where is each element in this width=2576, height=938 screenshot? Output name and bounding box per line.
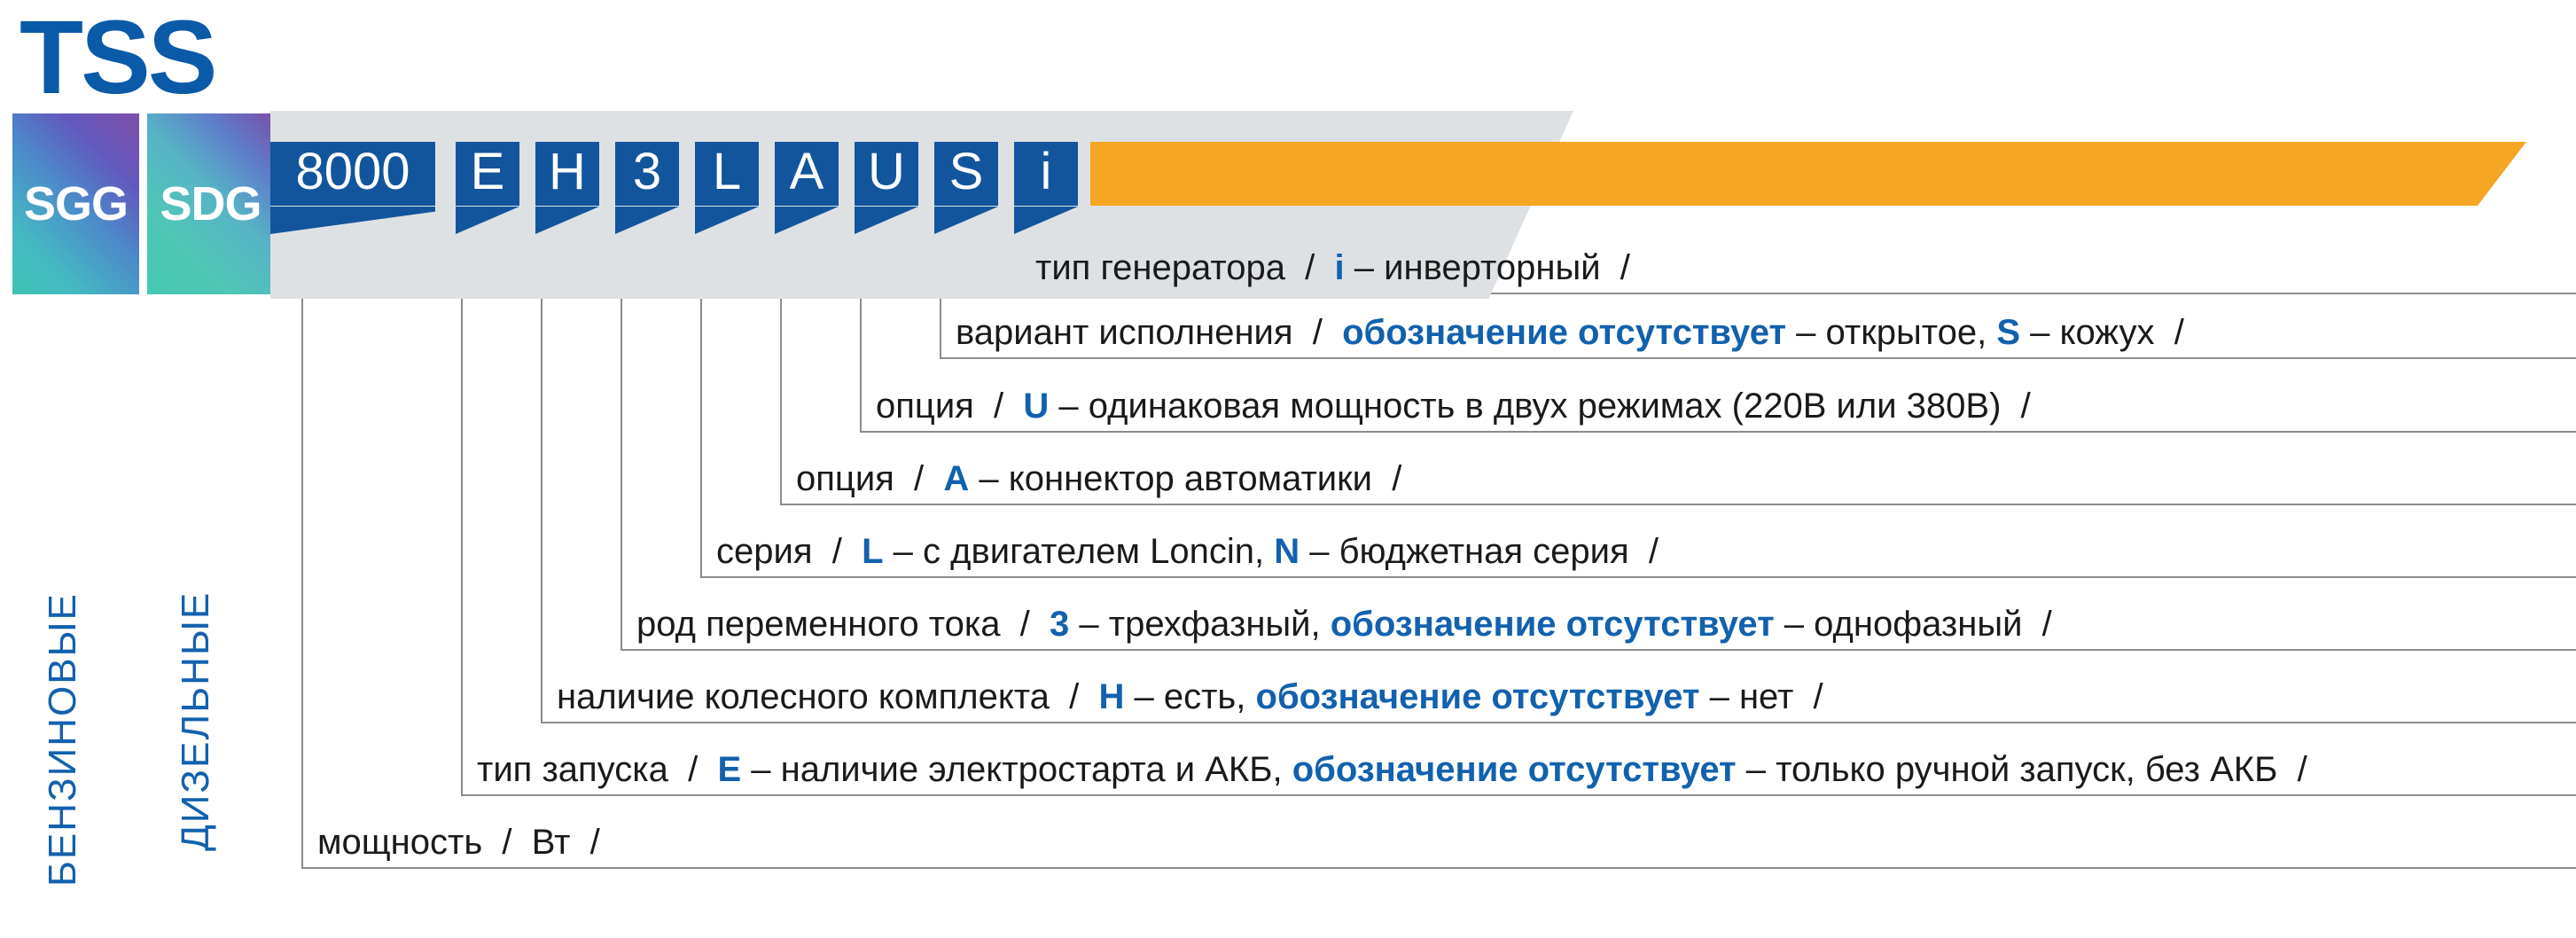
legend-dash: – [1710,677,1729,716]
legend-separator: / [1293,313,1343,352]
legend-text: одинаковая мощность в двух режимах (220В… [1089,387,2002,426]
legend-code-key: N [1274,532,1300,571]
legend-separator: / [894,459,944,498]
legend-option-u: опция / U – одинаковая мощность в двух р… [876,388,2031,424]
legend-text: Вт [532,823,571,862]
orange-accent-bar [1090,142,2526,206]
legend-text: однофазный [1814,605,2022,644]
code-power-label: 8000 [295,146,410,198]
legend-enclosure: вариант исполнения / обозначение отсутст… [956,315,2184,350]
legend-code-absent: обозначение отсутствует [1342,313,1786,352]
legend-title: род переменного тока [636,605,1000,644]
legend-code-key: U [1023,387,1049,426]
leader-hline [301,867,2576,869]
leader-vline [541,234,543,722]
legend-text: бюджетная серия [1339,532,1629,571]
legend-separator: / [1285,248,1335,287]
leader-hline [860,431,2576,433]
code-generator-type-label: i [1041,146,1052,198]
leader-vline [461,234,463,794]
legend-current-type: род переменного тока / 3 – трехфазный, о… [636,606,2052,642]
leader-hline [461,794,2576,796]
legend-start-type: тип запуска / E – наличие электростарта … [477,752,2307,787]
legend-separator-end: / [1639,532,1659,571]
legend-separator-end: / [2165,313,2184,352]
legend-text: с двигателем Loncin, [923,532,1264,571]
code-option-a[interactable]: A [775,142,839,206]
code-enclosure[interactable]: S [934,142,998,206]
legend-text: только ручной запуск, без АКБ [1776,750,2277,789]
legend-separator: / [668,750,718,789]
legend-text: коннектор автоматики [1009,459,1372,498]
legend-dash: – [751,750,770,789]
code-generator-type[interactable]: i [1014,142,1078,206]
code-option-u-label: U [868,146,905,198]
leader-hline [940,357,2576,359]
legend-separator-end: / [1382,459,1401,498]
diesel-series-badge[interactable]: SDG [147,113,274,294]
gasoline-series-badge[interactable]: SGG [12,113,139,294]
code-option-u[interactable]: U [855,142,918,206]
legend-code-absent: обозначение отсутствует [1331,605,1775,644]
diesel-vertical-label: ДИЗЕЛЬНЫЕ [174,591,218,851]
legend-title: серия [716,532,813,571]
legend-dash: – [979,459,998,498]
legend-dash: – [1746,750,1766,789]
legend-title: вариант исполнения [956,313,1293,352]
legend-separator: / [482,823,532,862]
legend-text: наличие электростарта и АКБ, [781,750,1283,789]
legend-dash: – [1058,387,1078,426]
leader-hline [541,722,2576,723]
legend-text: трехфазный, [1109,605,1321,644]
legend-dash: – [1134,677,1153,716]
legend-code-absent: обозначение отсутствует [1256,677,1700,716]
legend-generator-type: тип генератора / i – инверторный / [1035,250,1630,285]
legend-dash: – [1079,605,1098,644]
legend-title: тип запуска [477,750,668,789]
legend-text: инверторный [1384,248,1600,287]
code-power[interactable]: 8000 [270,142,435,206]
code-start-type[interactable]: E [456,142,519,206]
legend-dash: – [1796,313,1815,352]
legend-dash: – [1354,248,1374,287]
legend-code-key: E [717,750,741,789]
code-enclosure-label: S [949,146,984,198]
legend-wheel-kit: наличие колесного комплекта / H – есть, … [557,679,1823,715]
leader-hline [621,649,2576,651]
diagram-canvas: TSS SGG SDG БЕНЗИНОВЫЕ ДИЗЕЛЬНЫЕ 8000EH3… [0,0,2576,938]
legend-separator-end: / [1803,677,1823,716]
code-start-type-label: E [471,146,505,198]
legend-title: наличие колесного комплекта [557,677,1050,716]
legend-code-key: 3 [1050,605,1069,644]
legend-text: есть, [1164,677,1246,716]
code-wheel-kit[interactable]: H [535,142,599,206]
legend-text: нет [1739,677,1793,716]
legend-text: кожух [2060,313,2155,352]
legend-title: опция [876,387,974,426]
gasoline-vertical-label: БЕНЗИНОВЫЕ [41,592,85,887]
legend-separator-end: / [2011,387,2031,426]
legend-code-absent: обозначение отсутствует [1292,750,1737,789]
legend-code-key: i [1335,248,1345,287]
gasoline-series-badge-label: SGG [24,176,128,231]
diesel-series-badge-label: SDG [160,176,261,231]
code-current-type[interactable]: 3 [615,142,679,206]
legend-title: мощность [317,823,482,862]
legend-dash: – [894,532,913,571]
legend-dash: – [1309,532,1329,571]
legend-dash: – [2030,313,2049,352]
legend-power: мощность / Вт / [317,825,600,860]
legend-option-a: опция / A – коннектор автоматики / [796,461,1401,496]
legend-text: открытое, [1826,313,1987,352]
brand-logo: TSS [20,5,215,110]
legend-separator-end: / [581,823,600,862]
legend-code-key: A [943,459,969,498]
legend-code-key: H [1098,677,1124,716]
legend-separator: / [1000,605,1050,644]
leader-hline [700,576,2576,578]
code-wheel-kit-label: H [549,146,586,198]
code-option-a-label: A [790,146,824,198]
legend-separator: / [974,387,1024,426]
legend-series: серия / L – с двигателем Loncin, N – бюд… [716,534,1659,569]
legend-separator-end: / [2033,605,2052,644]
legend-title: тип генератора [1035,248,1285,287]
leader-hline [780,504,2576,505]
leader-vline [301,234,303,867]
legend-separator: / [1050,677,1099,716]
legend-separator-end: / [2287,750,2307,789]
legend-title: опция [796,459,894,498]
legend-dash: – [1784,605,1804,644]
code-current-type-label: 3 [633,146,661,198]
code-series[interactable]: L [695,142,759,206]
legend-code-key: S [1996,313,2020,352]
legend-separator-end: / [1611,248,1630,287]
code-series-label: L [713,146,741,198]
legend-code-key: L [862,532,883,571]
legend-separator: / [813,532,863,571]
